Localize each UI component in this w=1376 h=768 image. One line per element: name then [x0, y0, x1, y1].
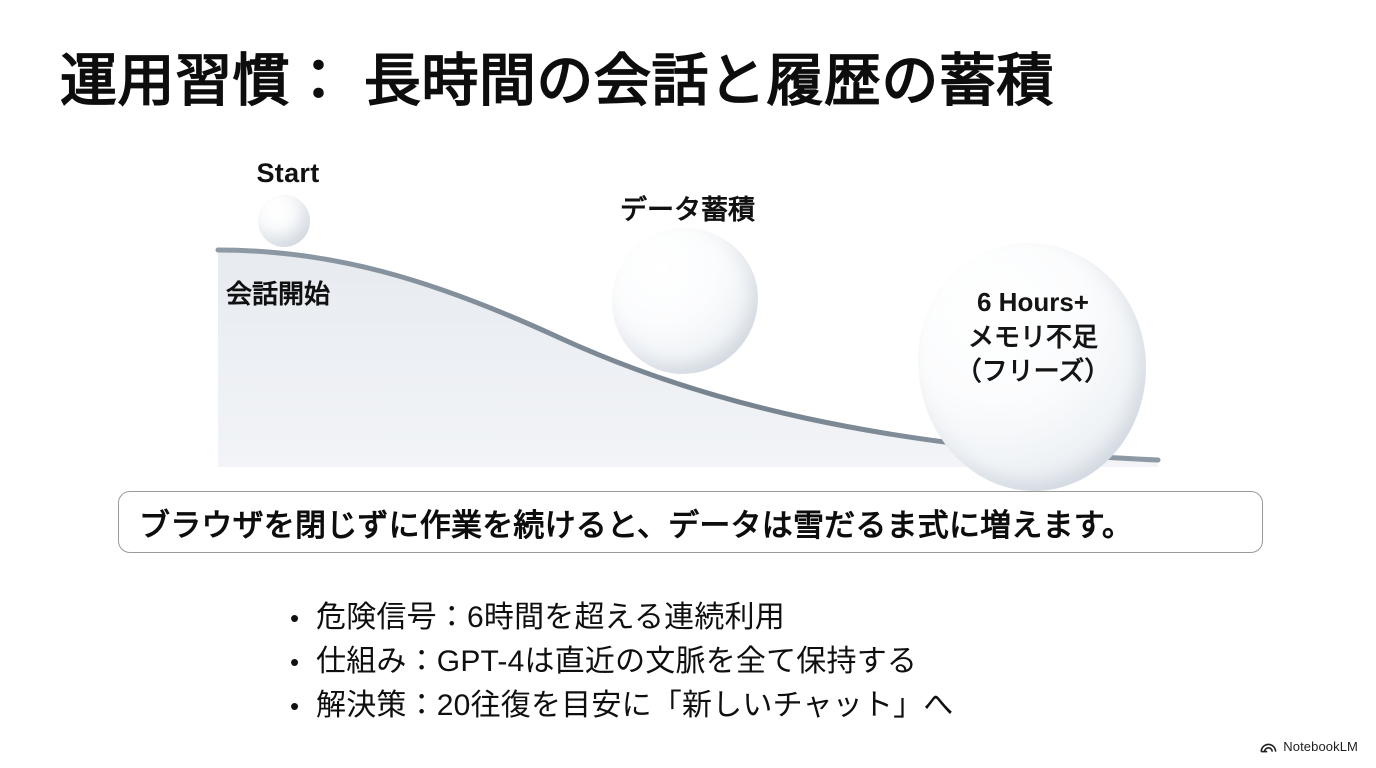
bullet-marker-icon: • — [290, 605, 316, 631]
bullet-list: • 危険信号：6時間を超える連続利用 • 仕組み：GPT-4は直近の文脈を全て保… — [290, 592, 1190, 724]
callout-box: ブラウザを閉じずに作業を続けると、データは雪だるま式に増えます。 — [118, 491, 1263, 553]
page-title: 運用習慣： 長時間の会話と履歴の蓄積 — [60, 48, 1054, 115]
snowball-large-line-3: （フリーズ） — [938, 354, 1128, 389]
callout-text: ブラウザを閉じずに作業を続けると、データは雪だるま式に増えます。 — [139, 500, 1133, 545]
bullet-text-3: 解決策：20往復を目安に「新しいチャット」へ — [316, 680, 953, 724]
label-conversation-start: 会話開始 — [226, 274, 396, 311]
label-data-accumulation: データ蓄積 — [600, 188, 775, 227]
snowball-large-line-2: メモリ不足 — [938, 320, 1128, 355]
bullet-text-2: 仕組み：GPT-4は直近の文脈を全て保持する — [316, 636, 917, 680]
footer-brand: NotebookLM — [1260, 739, 1358, 754]
snowball-large-text: 6 Hours+ メモリ不足 （フリーズ） — [938, 285, 1128, 389]
list-item: • 解決策：20往復を目安に「新しいチャット」へ — [290, 680, 1190, 724]
notebooklm-arc-icon — [1260, 740, 1277, 753]
list-item: • 危険信号：6時間を超える連続利用 — [290, 592, 1190, 636]
bullet-marker-icon: • — [290, 649, 316, 675]
label-start: Start — [248, 158, 328, 189]
snowball-illustration: Start データ蓄積 会話開始 6 Hours+ メモリ不足 （フリーズ） — [0, 140, 1376, 480]
snowball-small — [258, 195, 310, 247]
bullet-text-1: 危険信号：6時間を超える連続利用 — [316, 592, 785, 636]
footer-brand-label: NotebookLM — [1283, 739, 1358, 754]
snowball-large-line-1: 6 Hours+ — [938, 285, 1128, 320]
bullet-marker-icon: • — [290, 693, 316, 719]
list-item: • 仕組み：GPT-4は直近の文脈を全て保持する — [290, 636, 1190, 680]
